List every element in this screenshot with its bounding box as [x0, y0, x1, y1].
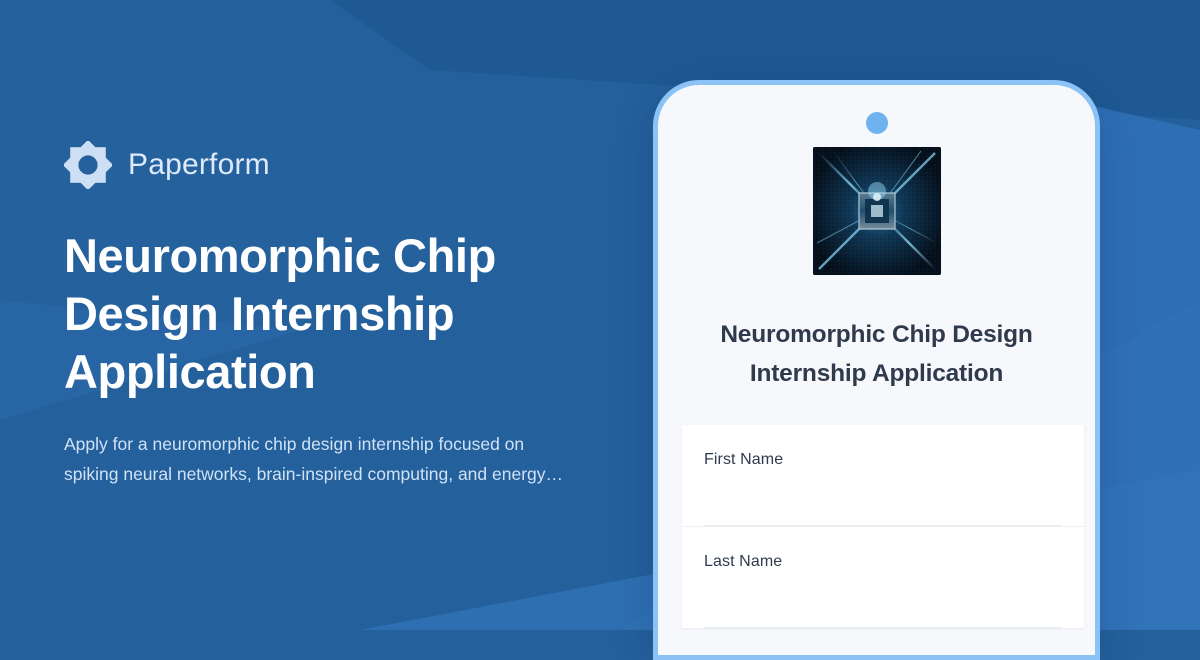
form-title: Neuromorphic Chip Design Internship Appl… [682, 315, 1071, 393]
page-title: Neuromorphic Chip Design Internship Appl… [64, 227, 564, 401]
page-description: Apply for a neuromorphic chip design int… [64, 429, 574, 489]
brand-lockup: Paperform [64, 141, 604, 189]
form-card: First Name Last Name [682, 425, 1084, 628]
field-label: Last Name [704, 553, 1062, 571]
form-field-last-name[interactable]: Last Name [682, 527, 1084, 628]
phone-mockup: Neuromorphic Chip Design Internship Appl… [653, 80, 1100, 660]
last-name-input[interactable] [704, 571, 1062, 628]
form-field-first-name[interactable]: First Name [682, 425, 1084, 527]
hero-content: Paperform Neuromorphic Chip Design Inter… [64, 0, 604, 630]
first-name-input[interactable] [704, 469, 1062, 526]
front-camera-dot-icon [866, 112, 888, 134]
field-label: First Name [704, 451, 1062, 469]
brand-wordmark: Paperform [128, 150, 270, 180]
neuromorphic-circuit-chip-image [813, 147, 941, 275]
paperform-star-logo-icon [64, 141, 112, 189]
